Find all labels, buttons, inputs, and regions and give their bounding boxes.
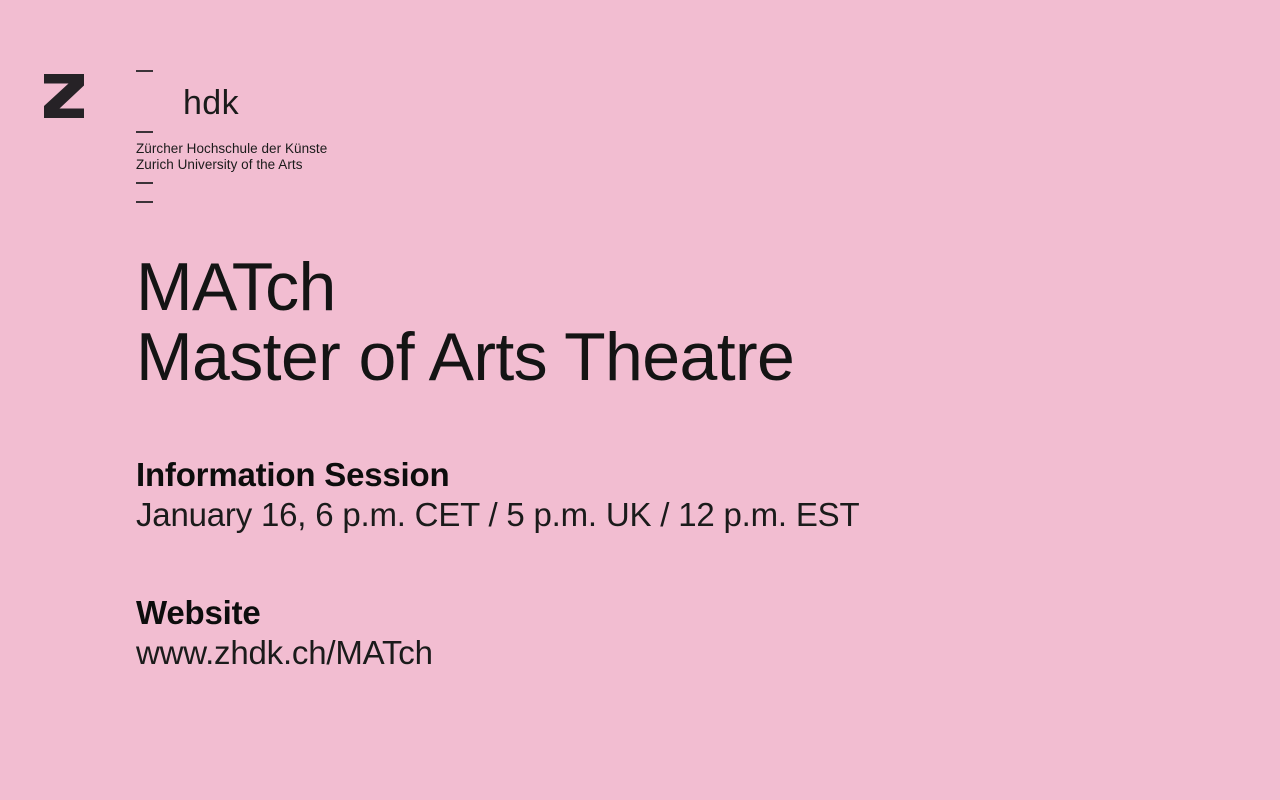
page-title: MATch Master of Arts Theatre <box>136 252 1196 392</box>
page-title-line-1: MATch <box>136 252 1196 322</box>
logo-wordmark-hdk: hdk <box>183 86 239 120</box>
poster-slide: hdk Zürcher Hochschule der Künste Zurich… <box>0 0 1280 800</box>
zhdk-z-mark-icon <box>42 72 86 120</box>
website-group: Website www.zhdk.ch/MATch <box>136 593 1196 673</box>
logo-rule-column: hdk Zürcher Hochschule der Künste Zurich… <box>136 0 556 220</box>
logo-rule-3 <box>136 182 153 184</box>
logo-rule-2 <box>136 131 153 133</box>
info-session-datetime: January 16, 6 p.m. CET / 5 p.m. UK / 12 … <box>136 495 1196 535</box>
zhdk-logo-lockup: hdk Zürcher Hochschule der Künste Zurich… <box>0 0 600 220</box>
main-content: MATch Master of Arts Theatre Information… <box>136 252 1196 673</box>
logo-rule-4 <box>136 201 153 203</box>
logo-rule-1 <box>136 70 153 72</box>
logo-subtitle: Zürcher Hochschule der Künste Zurich Uni… <box>136 141 327 173</box>
website-url[interactable]: www.zhdk.ch/MATch <box>136 633 1196 673</box>
logo-subtitle-en: Zurich University of the Arts <box>136 157 327 173</box>
info-session-group: Information Session January 16, 6 p.m. C… <box>136 455 1196 535</box>
logo-subtitle-de: Zürcher Hochschule der Künste <box>136 141 327 157</box>
info-session-label: Information Session <box>136 455 1196 495</box>
website-label: Website <box>136 593 1196 633</box>
page-title-line-2: Master of Arts Theatre <box>136 322 1196 392</box>
